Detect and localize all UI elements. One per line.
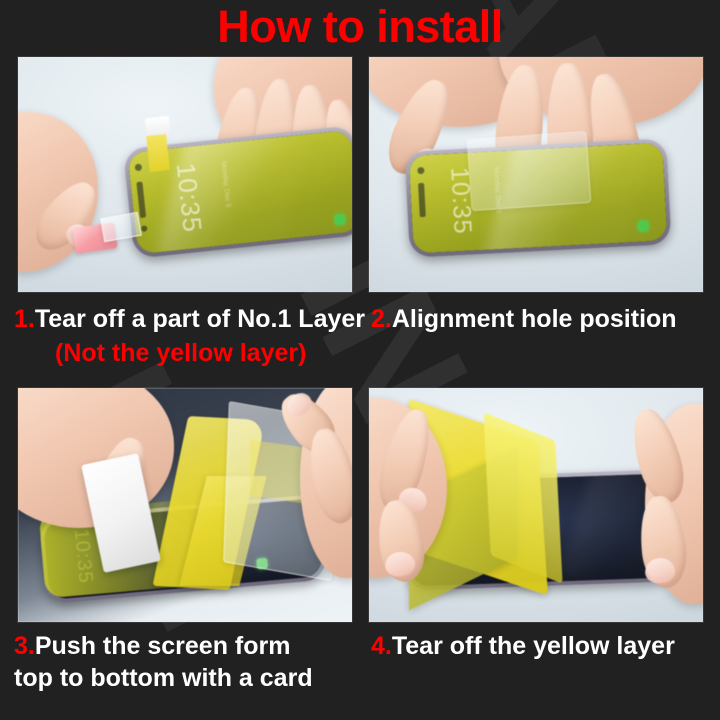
step-4-image [369,388,703,622]
step-3-caption-line2: top to bottom with a card [14,662,313,694]
step-3-caption: 3.Push the screen form [14,630,291,662]
step-2-caption-text: Alignment hole position [392,305,677,333]
step-3-image: 10:35 [18,388,352,622]
poster-title: How to install [0,2,720,52]
step-1-number: 1. [14,305,35,333]
step-2-number: 2. [371,305,392,333]
step-1-caption: 1.Tear off a part of No.1 Layer [14,303,365,335]
step-1-subnote: (Not the yellow layer) [55,337,306,369]
step-4-caption-text: Tear off the yellow layer [392,632,675,660]
step-3-number: 3. [14,632,35,660]
step-2-caption: 2.Alignment hole position [371,303,677,335]
how-to-install-poster: AM IN HM How to install 10:35 Monday, De… [0,0,720,720]
step-3-caption-text: Push the screen form [35,632,291,660]
step-2-image: 10:35 Monday, Dec 5 [369,57,703,292]
step-4-caption: 4.Tear off the yellow layer [371,630,675,662]
step-4-number: 4. [371,632,392,660]
step-1-caption-text: Tear off a part of No.1 Layer [35,305,365,333]
step-1-image: 10:35 Monday, Dec 5 [18,57,352,292]
